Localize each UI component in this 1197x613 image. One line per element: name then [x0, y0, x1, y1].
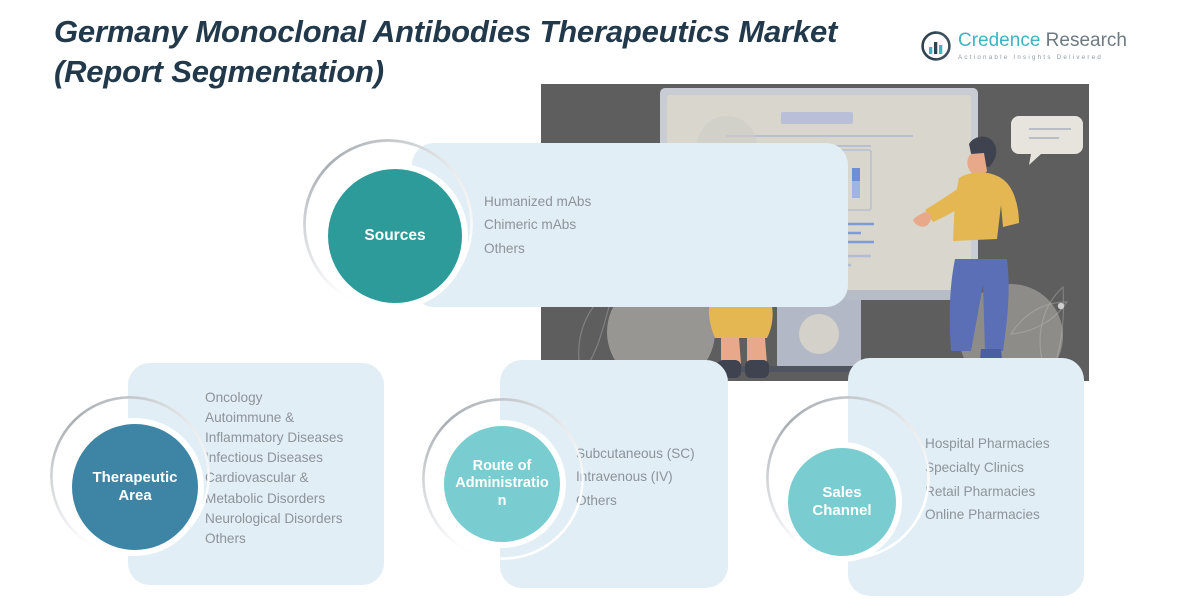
circle-therapeutic-area-label: Therapeutic Area [92, 469, 177, 504]
logo-name: Credence Research [958, 31, 1127, 51]
circle-sources-disc: Sources [328, 169, 462, 303]
list-item: Infectious Diseases [205, 448, 385, 468]
list-sources: Humanized mAbs Chimeric mAbs Others [484, 190, 814, 260]
circle-therapeutic-area[interactable]: Therapeutic Area [66, 418, 204, 556]
credence-research-logo: Credence Research Actionable Insights De… [921, 24, 1116, 68]
list-route-of-administration: Subcutaneous (SC) Intravenous (IV) Other… [576, 442, 726, 512]
list-item: Retail Pharmacies [925, 480, 1095, 504]
bar-chart-circle-icon [921, 31, 951, 61]
logo-name-part-2: Research [1046, 30, 1127, 51]
circle-route-of-administration-label: Route of Administratio n [455, 458, 548, 509]
list-sales-channel: Hospital Pharmacies Specialty Clinics Re… [925, 432, 1095, 527]
list-item: Others [484, 237, 814, 260]
page-title-line-1: Germany Monoclonal Antibodies Therapeuti… [54, 14, 837, 49]
circle-sales-channel[interactable]: Sales Channel [782, 442, 902, 562]
list-item: Subcutaneous (SC) [576, 442, 726, 465]
page-title: Germany Monoclonal Antibodies Therapeuti… [54, 12, 914, 91]
list-item: Others [576, 489, 726, 512]
circle-sales-channel-disc: Sales Channel [788, 448, 896, 556]
list-item: Hospital Pharmacies [925, 432, 1095, 456]
infographic-canvas: Germany Monoclonal Antibodies Therapeuti… [0, 0, 1197, 613]
list-item: Humanized mAbs [484, 190, 814, 213]
logo-tagline: Actionable Insights Delivered [958, 54, 1127, 61]
list-item: Chimeric mAbs [484, 213, 814, 236]
list-item: Neurological Disorders [205, 509, 385, 529]
circle-therapeutic-area-disc: Therapeutic Area [72, 424, 198, 550]
list-item: Intravenous (IV) [576, 465, 726, 488]
list-item: Online Pharmacies [925, 503, 1095, 527]
list-item: Specialty Clinics [925, 456, 1095, 480]
logo-name-part-1: Credence [958, 30, 1040, 51]
circle-route-of-administration[interactable]: Route of Administratio n [438, 420, 566, 548]
list-item: Cardiovascular & Metabolic Disorders [205, 468, 385, 508]
circle-sales-channel-label: Sales Channel [812, 484, 871, 519]
list-therapeutic-area: Oncology Autoimmune & Inflammatory Disea… [205, 388, 385, 549]
circle-sources-label: Sources [364, 227, 425, 245]
circle-route-of-administration-disc: Route of Administratio n [444, 426, 560, 542]
list-item: Autoimmune & Inflammatory Diseases [205, 408, 385, 448]
circle-sources[interactable]: Sources [322, 163, 468, 309]
logo-text: Credence Research Actionable Insights De… [958, 31, 1127, 61]
list-item: Oncology [205, 388, 385, 408]
list-item: Others [205, 529, 385, 549]
